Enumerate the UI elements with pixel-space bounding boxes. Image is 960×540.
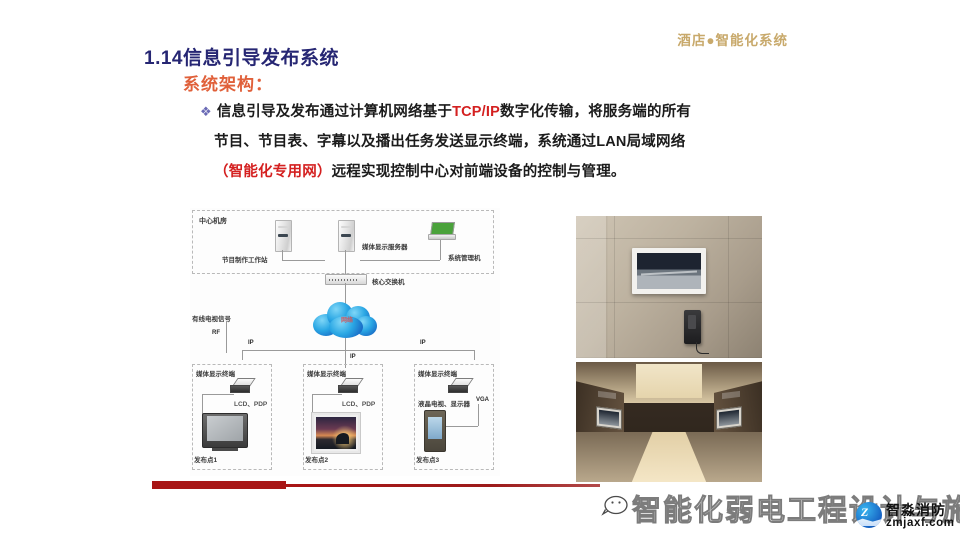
photo1-flat-panel-screen bbox=[632, 248, 706, 294]
page-title: 1.14信息引导发布系统 bbox=[144, 43, 339, 70]
para-line1-a: 信息引导及发布通过计算机网络基于 bbox=[217, 104, 452, 120]
photo1-wall-device bbox=[684, 310, 701, 344]
wechat-bubble-icon bbox=[600, 494, 630, 518]
admin-laptop-icon bbox=[428, 222, 454, 240]
bottom-bar-thin bbox=[286, 484, 600, 487]
bullet-diamond-icon: ❖ bbox=[200, 104, 212, 119]
label-display-type-1: LCD、PDP bbox=[234, 398, 267, 408]
slide-canvas: 酒店●智能化系统 1.14信息引导发布系统 系统架构： ❖信息引导及发布通过计算… bbox=[0, 0, 960, 540]
terminal-box-3-icon bbox=[448, 378, 470, 393]
network-cloud-icon: 网络 bbox=[313, 300, 377, 340]
wall-mounted-lcd-display-photo bbox=[576, 216, 762, 358]
workstation-tower-icon bbox=[275, 220, 292, 252]
system-architecture-diagram: 中心机房 节目制作工作站 媒体显示服务器 系统管理机 核心交换机 网络 有线电视… bbox=[190, 208, 500, 476]
lcd-kiosk-display-3-icon bbox=[424, 410, 446, 452]
body-paragraph: ❖信息引导及发布通过计算机网络基于TCP/IP数字化传输，将服务端的所有 节目、… bbox=[200, 97, 780, 187]
label-display-type-2: LCD、PDP bbox=[342, 398, 375, 408]
label-publish-point-2: 发布点2 bbox=[305, 454, 328, 464]
label-ip-2: IP bbox=[350, 354, 356, 360]
brand-logo-badge: Z 智淼消防 zmjaxf.com bbox=[856, 500, 956, 536]
label-media-server: 媒体显示服务器 bbox=[362, 241, 408, 251]
para-line2-a: 节目、节目表、字幕以及播出任务发送显示终端，系统通过 bbox=[214, 134, 596, 150]
label-publish-point-3: 发布点3 bbox=[416, 454, 439, 464]
terminal-box-1-icon bbox=[230, 378, 252, 393]
header-brand: 酒店●智能化系统 bbox=[677, 29, 788, 49]
label-display-type-3: 液晶电视、显示器 bbox=[418, 398, 470, 408]
label-vga: VGA bbox=[476, 397, 489, 403]
para-private-net-highlight: （智能化专用网） bbox=[214, 164, 332, 180]
para-lan-highlight: LAN bbox=[596, 134, 626, 150]
bottom-bar-thick bbox=[152, 481, 286, 489]
label-workstation: 节目制作工作站 bbox=[222, 254, 268, 264]
para-tcpip-highlight: TCP/IP bbox=[452, 104, 500, 120]
label-cloud: 网络 bbox=[333, 315, 361, 324]
label-ip-1: IP bbox=[248, 340, 254, 346]
elevator-lobby-displays-photo bbox=[576, 362, 762, 482]
label-ip-3: IP bbox=[420, 340, 426, 346]
lcd-pdp-display-2-icon bbox=[312, 413, 360, 453]
para-line3-b: 远程实现控制中心对前端设备的控制与管理。 bbox=[332, 164, 626, 180]
media-server-tower-icon bbox=[338, 220, 355, 252]
label-terminal-3: 媒体显示终端 bbox=[418, 368, 457, 378]
label-rf: RF bbox=[212, 330, 220, 336]
photo2-corridor-display-left bbox=[596, 406, 622, 429]
label-terminal-1: 媒体显示终端 bbox=[196, 368, 235, 378]
label-publish-point-1: 发布点1 bbox=[194, 454, 217, 464]
page-subtitle: 系统架构： bbox=[183, 70, 273, 95]
zmjaxf-logo-icon: Z bbox=[856, 502, 882, 528]
terminal-box-2-icon bbox=[338, 378, 360, 393]
label-terminal-2: 媒体显示终端 bbox=[307, 368, 346, 378]
para-line2-b: 局域网络 bbox=[627, 134, 686, 150]
label-core-switch: 核心交换机 bbox=[372, 276, 405, 286]
para-line1-b: 数字化传输，将服务端的所有 bbox=[500, 104, 691, 120]
label-admin-pc: 系统管理机 bbox=[448, 252, 481, 262]
lcd-pdp-display-1-icon bbox=[202, 413, 248, 448]
logo-website-url: zmjaxf.com bbox=[886, 517, 955, 529]
photo1-cable bbox=[696, 342, 709, 354]
photo2-corridor-display-right bbox=[716, 406, 742, 429]
core-switch-icon bbox=[325, 274, 367, 285]
label-central-machine-room: 中心机房 bbox=[199, 216, 227, 226]
